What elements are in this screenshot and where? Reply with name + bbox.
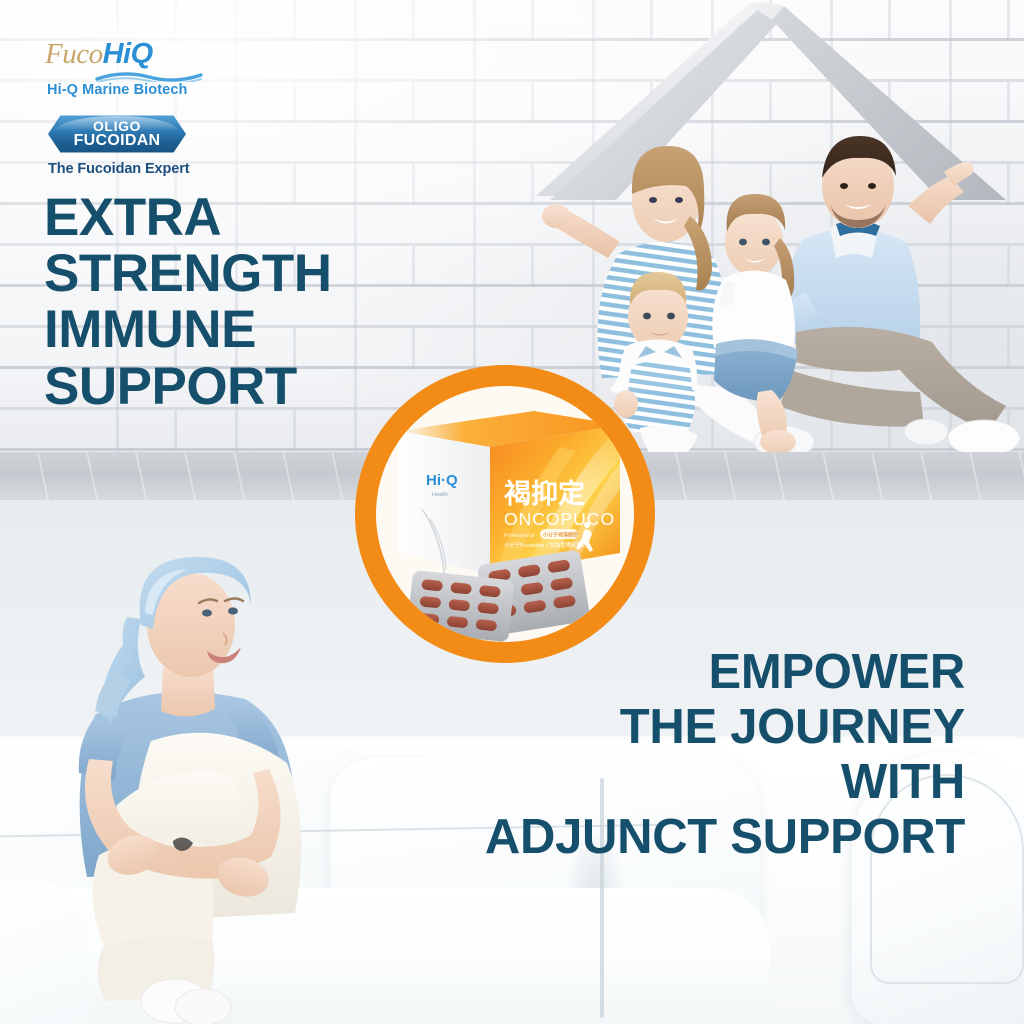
product-subtitle: Professional: [504, 533, 534, 539]
headline-top-line-1: EXTRA: [44, 190, 444, 246]
headline-bottom-line-2: THE JOURNEY: [365, 700, 965, 755]
fucohiq-logo: FucoHiQ Hi-Q Marine Biotech: [45, 40, 205, 100]
product-package-image: Hi·Q Health 褐抑定 ONCOPUCO Professional 小分…: [374, 385, 636, 643]
fucohiq-word-hiq: HiQ: [103, 38, 153, 70]
oligo-fucoidan-badge: OLIGO FUCOIDAN: [48, 112, 186, 156]
badge-line-oligo: OLIGO: [93, 119, 141, 133]
product-badge-cjk: 小分子褐藻醣膠: [543, 532, 578, 539]
oligo-fucoidan-tagline: The Fucoidan Expert: [48, 161, 188, 177]
fucohiq-word-fuco: Fuco: [45, 38, 103, 70]
fucohiq-tagline: Hi-Q Marine Biotech: [47, 82, 187, 98]
headline-bottom-line-4: ADJUNCT SUPPORT: [365, 810, 965, 865]
product-highlight-circle: Hi·Q Health 褐抑定 ONCOPUCO Professional 小分…: [355, 365, 655, 663]
product-name-latin: ONCOPUCO: [504, 509, 615, 529]
wave-swoosh-icon: [95, 70, 203, 82]
headline-top: EXTRA STRENGTH IMMUNE SUPPORT: [44, 190, 444, 415]
product-brand-mark: Hi·Q: [426, 472, 458, 489]
headline-top-line-2: STRENGTH: [44, 246, 444, 302]
headline-bottom: EMPOWER THE JOURNEY WITH ADJUNCT SUPPORT: [365, 645, 965, 865]
badge-line-fucoidan: FUCOIDAN: [74, 133, 161, 149]
product-footer-detail: 60 capsules: [586, 562, 610, 567]
headline-top-line-3: IMMUNE: [44, 302, 444, 358]
product-detail-cjk: 小分子Fucoidan / 加強型專利配方: [504, 541, 588, 549]
headline-bottom-line-3: WITH: [365, 755, 965, 810]
oligo-fucoidan-logo: OLIGO FUCOIDAN The Fucoidan Expert: [48, 112, 188, 182]
advertisement-canvas: FucoHiQ Hi-Q Marine Biotech OLIGO FUCOID…: [0, 0, 1024, 1024]
fucohiq-wordmark: FucoHiQ: [45, 40, 205, 69]
product-brand-sub: Health: [432, 492, 448, 498]
product-name-cjk: 褐抑定: [504, 478, 585, 510]
